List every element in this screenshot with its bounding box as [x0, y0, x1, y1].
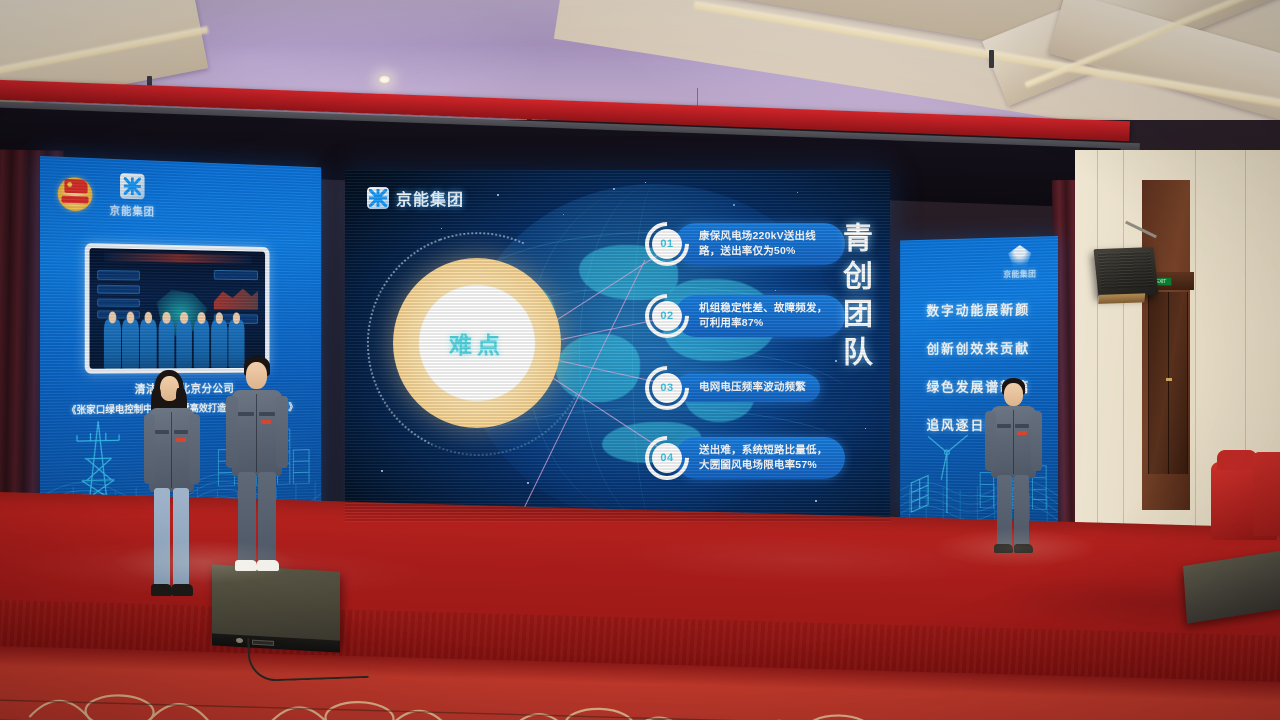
- bullet-badge-icon: 04: [645, 436, 689, 480]
- hub-label: 难点: [449, 326, 505, 360]
- bullet-item-01: 01 康保风电场220kV送出线路，送出率仅为50%: [645, 222, 845, 266]
- bullet-number: 03: [660, 382, 673, 394]
- chair-cover: [1253, 452, 1280, 536]
- bullet-text: 康保风电场220kV送出线路，送出率仅为50%: [675, 223, 845, 265]
- snowflake-icon: [367, 187, 389, 209]
- presenter-left-female: [140, 368, 204, 608]
- bullet-badge-icon: 01: [645, 222, 689, 266]
- bullet-badge-icon: 03: [645, 366, 689, 410]
- slogan-line: 创新创效来贡献: [926, 337, 1030, 357]
- hanging-speaker: [1093, 247, 1158, 297]
- snowflake-icon: [120, 173, 145, 199]
- brand-name-right: 京能集团: [1003, 268, 1036, 280]
- ceiling-downlight: [378, 75, 391, 84]
- slogan-line: 数字动能展新颜: [926, 298, 1030, 319]
- brand-name-center: 京能集团: [396, 186, 464, 210]
- bullet-text: 送出难，系统短路比量低，大圐圙风电场限电率57%: [675, 437, 845, 479]
- jingneng-logo-left: 京能集团: [110, 173, 155, 220]
- bullet-badge-icon: 02: [645, 294, 689, 338]
- communist-youth-league-emblem-icon: [58, 177, 93, 212]
- bullet-item-03: 03 电网电压频率波动频繁: [645, 366, 820, 410]
- bullet-item-02: 02 机组稳定性差、故障频发，可利用率87%: [645, 294, 845, 338]
- presenter-left-male: [224, 356, 290, 582]
- exit-door[interactable]: [1148, 292, 1188, 474]
- bullet-number: 01: [660, 238, 673, 250]
- ceiling-rig-mount: [989, 50, 994, 68]
- hub-circle: 难点: [393, 258, 561, 428]
- presenter-right-male: [984, 378, 1042, 556]
- bullet-text: 电网电压频率波动频繁: [675, 374, 820, 401]
- jingneng-logo-center: 京能集团: [367, 186, 464, 210]
- stage-scene: EXIT 京能集团: [0, 0, 1280, 720]
- snowflake-icon: [1008, 245, 1031, 267]
- led-panel-center: 难点 京能集团 01 康保风电场220kV送出线路，送出率仅为50% 02 机组…: [345, 170, 890, 522]
- bullet-item-04: 04 送出难，系统短路比量低，大圐圙风电场限电率57%: [645, 436, 845, 480]
- dashboard-monitor-image: [85, 243, 270, 374]
- brand-name-left: 京能集团: [110, 202, 155, 219]
- center-panel-vertical-title: 青创团队: [832, 222, 876, 374]
- bullet-text: 机组稳定性差、故障频发，可利用率87%: [675, 295, 845, 337]
- left-panel-logo-row: 京能集团: [58, 171, 155, 220]
- bullet-number: 04: [660, 452, 673, 464]
- speaker-cable: [247, 634, 368, 682]
- jingneng-logo-right: 京能集团: [1003, 245, 1036, 281]
- bullet-number: 02: [660, 310, 673, 322]
- exit-sign-label: EXIT: [1156, 279, 1166, 285]
